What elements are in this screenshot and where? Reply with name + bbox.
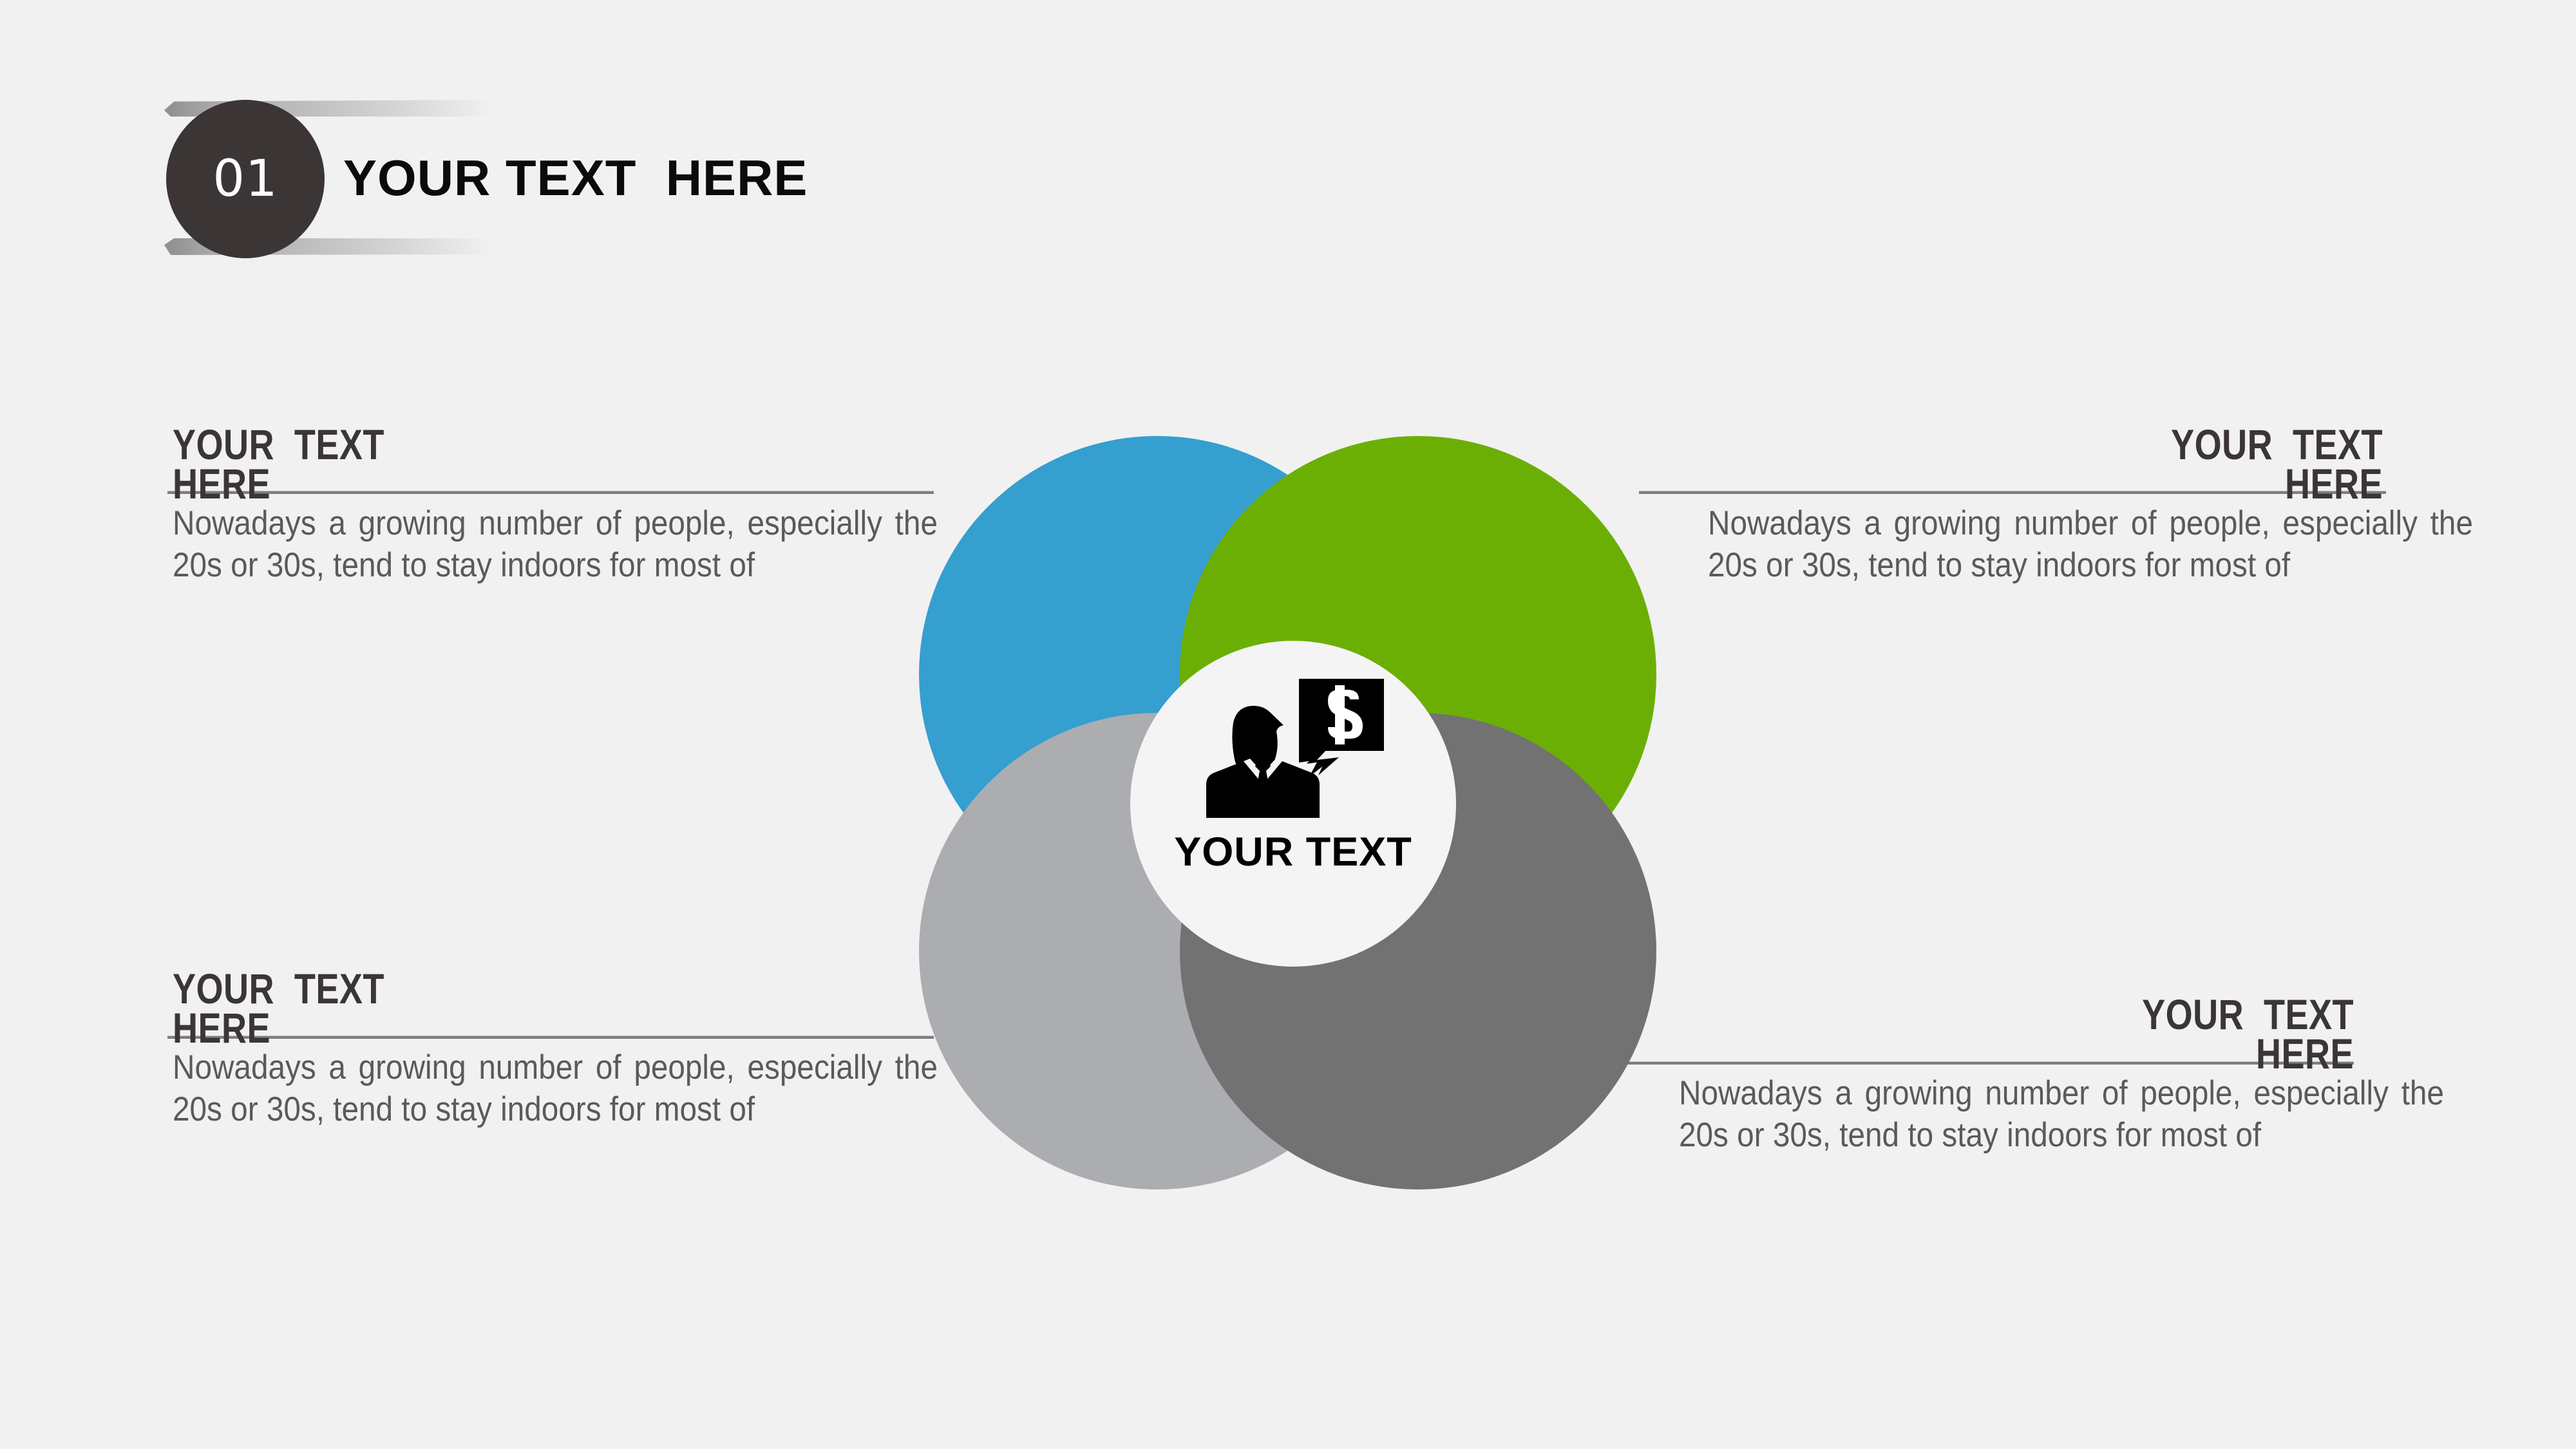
businessman-dollar-speech-icon [1196, 677, 1386, 819]
venn-diagram: YOUR TEXT [919, 436, 1656, 1189]
info-block-title: YOUR TEXT HERE [173, 969, 796, 1047]
info-block-body: Nowadays a growing number of people, esp… [173, 503, 938, 586]
info-block-title: YOUR TEXT HERE [173, 425, 796, 503]
header-number-label: 01 [213, 154, 278, 204]
info-block-title: YOUR TEXT HERE [1759, 425, 2383, 503]
header-number-badge: 01 [166, 100, 325, 258]
info-block-top-left: YOUR TEXT HERE Nowadays a growing number… [173, 425, 933, 587]
info-block-top-right: YOUR TEXT HERE Nowadays a growing number… [1623, 425, 2383, 587]
info-block-body: Nowadays a growing number of people, esp… [173, 1047, 938, 1130]
info-block-bottom-left: YOUR TEXT HERE Nowadays a growing number… [173, 969, 933, 1131]
slide-canvas: 01 YOUR TEXT HERE YOUR TEXT HERE Nowaday… [0, 0, 2576, 1449]
venn-center-label: YOUR TEXT [1130, 829, 1456, 875]
info-block-title: YOUR TEXT HERE [1730, 995, 2354, 1073]
info-block-body: Nowadays a growing number of people, esp… [1679, 1073, 2444, 1156]
page-title: YOUR TEXT HERE [343, 153, 808, 203]
info-block-bottom-right: YOUR TEXT HERE Nowadays a growing number… [1594, 995, 2354, 1157]
slide-header: 01 YOUR TEXT HERE [0, 0, 2576, 277]
info-block-body: Nowadays a growing number of people, esp… [1708, 503, 2473, 586]
